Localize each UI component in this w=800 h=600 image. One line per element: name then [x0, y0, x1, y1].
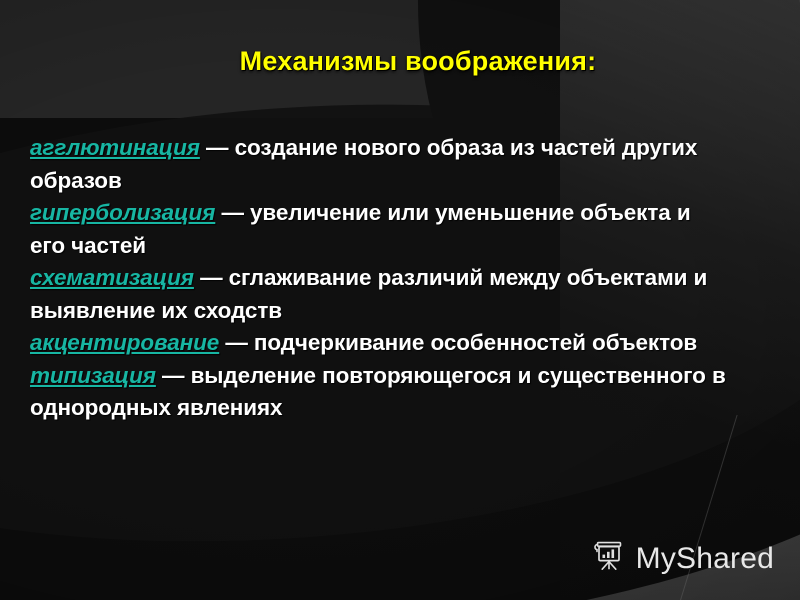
term-dash: —	[219, 330, 254, 355]
definition-item: схематизация — сглаживание различий межд…	[30, 262, 730, 327]
term-label: гиперболизация	[30, 200, 215, 225]
slide-canvas: Механизмы воображения: агглютинация — со…	[0, 0, 800, 600]
term-dash: —	[156, 363, 191, 388]
myshared-watermark: MyShared	[591, 539, 774, 578]
definition-text: подчеркивание особенностей объектов	[254, 330, 697, 355]
term-dash: —	[200, 135, 235, 160]
term-dash: —	[194, 265, 229, 290]
myshared-logo-text: MyShared	[636, 542, 774, 576]
term-label: схематизация	[30, 265, 194, 290]
definition-item: типизация — выделение повторяющегося и с…	[30, 360, 730, 425]
term-label: акцентирование	[30, 330, 219, 355]
slide-body: агглютинация — создание нового образа из…	[30, 132, 730, 425]
presentation-board-icon	[591, 539, 627, 578]
term-label: типизация	[30, 363, 156, 388]
definition-item: агглютинация — создание нового образа из…	[30, 132, 730, 197]
definition-item: акцентирование — подчеркивание особеннос…	[30, 327, 730, 360]
term-label: агглютинация	[30, 135, 200, 160]
definition-item: гиперболизация — увеличение или уменьшен…	[30, 197, 730, 262]
slide-title: Механизмы воображения:	[0, 46, 800, 77]
term-dash: —	[215, 200, 250, 225]
